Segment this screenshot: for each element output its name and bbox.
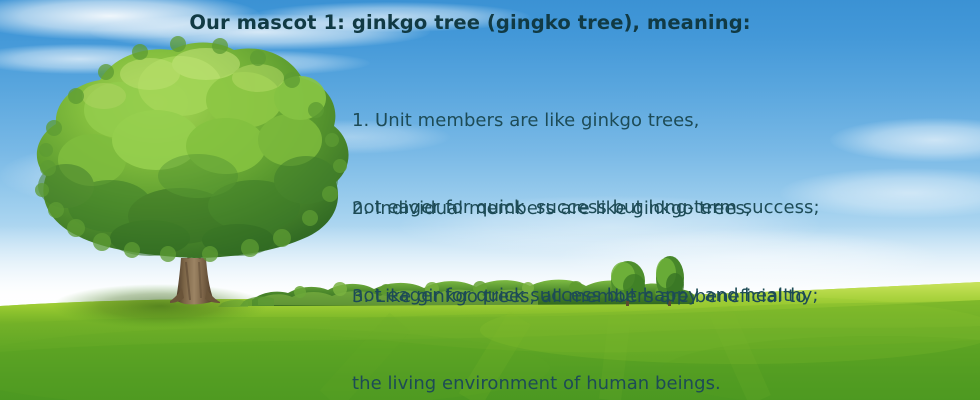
- point-2-line-1: 2. Individual members are like ginkgo tr…: [352, 194, 818, 223]
- point-3-line-2: the living environment of human beings.: [352, 369, 806, 398]
- caption-text-block: Our mascot 1: ginkgo tree (gingko tree),…: [0, 0, 980, 400]
- mascot-banner: Our mascot 1: ginkgo tree (gingko tree),…: [0, 0, 980, 400]
- point-3-line-1: 3. Like ginkgo trees, all members are be…: [352, 282, 806, 311]
- point-1-line-1: 1. Unit members are like ginkgo trees,: [352, 106, 820, 135]
- page-title: Our mascot 1: ginkgo tree (gingko tree),…: [0, 11, 940, 34]
- point-3-paragraph: 3. Like ginkgo trees, all members are be…: [352, 224, 806, 400]
